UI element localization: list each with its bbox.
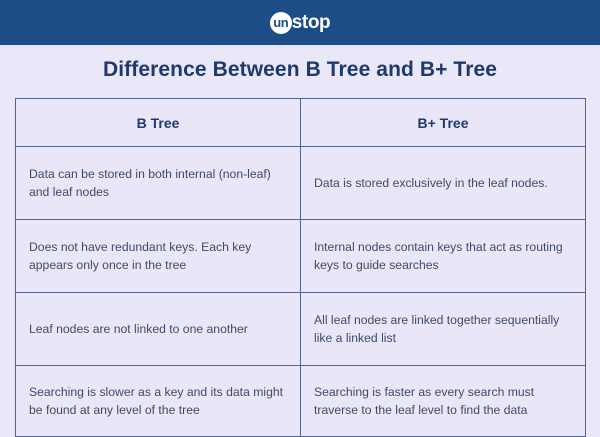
cell-b-plus-tree-3: All leaf nodes are linked together seque… — [301, 293, 586, 366]
table-row: Searching is slower as a key and its dat… — [16, 366, 586, 437]
cell-b-plus-tree-4: Searching is faster as every search must… — [301, 366, 586, 437]
cell-b-tree-1: Data can be stored in both internal (non… — [16, 147, 301, 220]
cell-b-tree-4: Searching is slower as a key and its dat… — [16, 366, 301, 437]
table-row: Does not have redundant keys. Each key a… — [16, 220, 586, 293]
cell-b-tree-2: Does not have redundant keys. Each key a… — [16, 220, 301, 293]
unstop-logo: un stop — [270, 11, 331, 35]
table-row: Data can be stored in both internal (non… — [16, 147, 586, 220]
cell-b-plus-tree-2: Internal nodes contain keys that act as … — [301, 220, 586, 293]
table-header-row: B Tree B+ Tree — [16, 99, 586, 147]
unstop-logo-wordmark: stop — [291, 13, 331, 32]
brand-header-band: un stop — [0, 0, 600, 45]
comparison-table: B Tree B+ Tree Data can be stored in bot… — [15, 98, 586, 437]
cell-b-plus-tree-1: Data is stored exclusively in the leaf n… — [301, 147, 586, 220]
unstop-logo-circle-icon: un — [270, 12, 292, 34]
table-row: Leaf nodes are not linked to one another… — [16, 293, 586, 366]
column-header-b-tree: B Tree — [16, 99, 301, 147]
infographic-page: un stop Difference Between B Tree and B+… — [0, 0, 600, 400]
cell-b-tree-3: Leaf nodes are not linked to one another — [16, 293, 301, 366]
page-title: Difference Between B Tree and B+ Tree — [0, 58, 600, 82]
column-header-b-plus-tree: B+ Tree — [301, 99, 586, 147]
